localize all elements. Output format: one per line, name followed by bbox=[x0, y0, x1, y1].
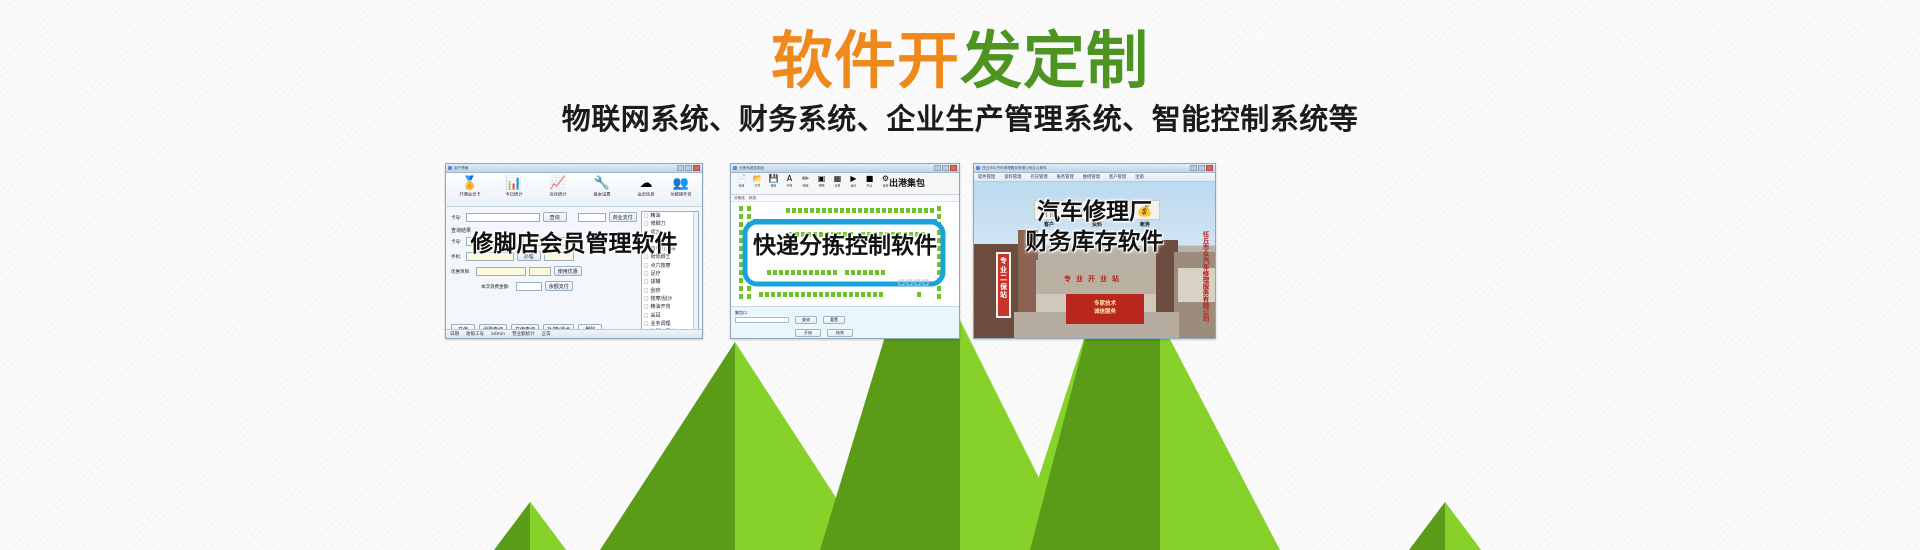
bottom-label-2: 集包口 bbox=[735, 310, 747, 316]
mountain-small-left-dark2 bbox=[494, 502, 566, 550]
minimize-icon-2[interactable] bbox=[934, 165, 941, 171]
gate-signage-text: 专业开业站 bbox=[1029, 274, 1159, 284]
page-title-green: 发定制 bbox=[960, 24, 1149, 97]
status-revenue: 营业额统计 bbox=[512, 331, 535, 337]
font-icon: A bbox=[782, 174, 797, 183]
status-user: admin bbox=[491, 332, 505, 337]
screenshot-card-3[interactable]: 任丘市众汽车修理服务有限公司办公软件 软件管理 资料管理 存货管理 账务管理 维… bbox=[973, 163, 1216, 339]
list-item[interactable]: 精油 bbox=[642, 212, 698, 220]
service-list-panel[interactable]: 精油 修脚刀 项次 养固剂 指甲刀消毒 牌修脚王 点穴按摩 足疗 拔罐 刮痧 按… bbox=[641, 211, 699, 339]
sorting-canvas[interactable] bbox=[731, 202, 959, 306]
mountain-svg bbox=[0, 320, 1920, 550]
stop-icon: ■ bbox=[862, 174, 877, 183]
screenshot-card-2[interactable]: 分拣系统控制台 📄 新建 📂 打开 💾 保存 bbox=[730, 163, 960, 339]
list-item[interactable]: 养固剂 bbox=[642, 237, 698, 245]
toolbar2-label-7: 运行 bbox=[847, 183, 860, 187]
minimize-icon-1[interactable] bbox=[677, 165, 684, 171]
mountain-2-dark bbox=[820, 320, 960, 550]
toolbar-label-1: 今日统计 bbox=[497, 191, 531, 197]
toolbar2-label-1: 打开 bbox=[751, 183, 764, 187]
total-input[interactable] bbox=[516, 282, 542, 291]
menu-item-repair[interactable]: 维修管理 bbox=[1083, 174, 1100, 180]
mountain-3-dark bbox=[1030, 320, 1160, 550]
list-scrollbar[interactable] bbox=[693, 212, 698, 339]
close-icon-3[interactable] bbox=[1206, 165, 1213, 171]
app-icon-1 bbox=[448, 166, 452, 170]
mountain-2-light bbox=[960, 320, 1075, 550]
total-label: 本次消费金额: bbox=[481, 283, 510, 289]
window-title-1: 用户界面 bbox=[454, 165, 468, 170]
toolbar-label-3: 基本设置 bbox=[585, 191, 619, 197]
mountain-small-left-light bbox=[530, 502, 566, 550]
list-item[interactable]: 项次 bbox=[642, 229, 698, 237]
status-state: 正常 bbox=[542, 331, 551, 337]
page-title-orange: 软件开 bbox=[771, 24, 960, 97]
list-item[interactable]: 采耳 bbox=[642, 312, 698, 320]
toolbar2-label-0: 新建 bbox=[735, 183, 748, 187]
menu-item-logout[interactable]: 注销 bbox=[1135, 174, 1144, 180]
maximize-icon-3[interactable] bbox=[1198, 165, 1205, 171]
close-icon-1[interactable] bbox=[693, 165, 700, 171]
list-item[interactable]: 指甲刀消毒 bbox=[642, 245, 698, 253]
org-chart-icon: 👥 bbox=[664, 175, 698, 191]
toolbar2-item-table[interactable]: ▦ 表格 bbox=[830, 174, 845, 188]
result-section-label: 查询结果 bbox=[451, 227, 637, 234]
window-title-3: 任丘市众汽车修理服务有限公司办公软件 bbox=[982, 165, 1047, 170]
window-controls-1[interactable] bbox=[677, 165, 700, 171]
card-number-row: 卡号: 查询 商业支付 bbox=[451, 212, 637, 222]
bottom-end-button[interactable]: 结束 bbox=[827, 329, 853, 337]
toolbar-label-2: 近月统计 bbox=[541, 191, 575, 197]
sorting-diagram bbox=[731, 202, 960, 306]
green-dot-row-top bbox=[786, 208, 934, 213]
service-input[interactable] bbox=[476, 267, 526, 276]
menu-item-software[interactable]: 软件管理 bbox=[978, 174, 995, 180]
toolbar2-label-2: 保存 bbox=[767, 183, 780, 187]
subrow-2: 分拣线 状态: bbox=[731, 195, 959, 202]
result-phone-label: 手机: bbox=[451, 253, 462, 259]
window-titlebar-1: 用户界面 bbox=[446, 164, 702, 173]
app-icon-2 bbox=[733, 166, 737, 170]
panel-title-2: 出港集包 bbox=[889, 176, 925, 189]
play-icon: ▶ bbox=[846, 174, 861, 183]
window-title-2: 分拣系统控制台 bbox=[739, 165, 764, 170]
result-phone-input[interactable] bbox=[466, 252, 514, 261]
toolbar-label-4: 会员信息 bbox=[629, 191, 663, 197]
statusbar-1: 日期 收银工号 admin 营业额统计 正常 bbox=[446, 329, 702, 338]
list-item[interactable]: 按摩/刮沙 bbox=[642, 295, 698, 303]
bottom-reset-button[interactable]: 重置 bbox=[823, 316, 845, 324]
maximize-icon-1[interactable] bbox=[685, 165, 692, 171]
mountain-small-right-light bbox=[1445, 502, 1481, 550]
toolbar2-item-run[interactable]: ▶ 运行 bbox=[846, 174, 861, 188]
menubar-3[interactable]: 软件管理 资料管理 存货管理 账务管理 维修管理 客户管理 注销 bbox=[974, 173, 1215, 182]
member-card-icon: 🏅 bbox=[450, 175, 490, 191]
icon-caption-customer: 客户 bbox=[1034, 221, 1064, 228]
small-square-row bbox=[761, 240, 928, 285]
toolbar-item-member-card[interactable]: 🏅 开通会员卡 bbox=[450, 175, 490, 198]
pay-button[interactable]: 商业支付 bbox=[609, 212, 637, 222]
icon-caption-accounts: 帐务 bbox=[1130, 221, 1160, 228]
list-item[interactable]: 足疗 bbox=[642, 270, 698, 278]
toolbar2-item-new[interactable]: 📄 新建 bbox=[734, 174, 749, 188]
result-phone-row: 手机: 办理 bbox=[451, 251, 637, 261]
result-card-input[interactable] bbox=[466, 237, 524, 246]
screenshot-gallery: 用户界面 🏅 开通会员卡 📊 今日统计 📈 近月统计 bbox=[0, 163, 1920, 341]
toolbar2-item-font[interactable]: A 字体 bbox=[782, 174, 797, 188]
icon-tile-data[interactable]: ✍ 资料 bbox=[1082, 200, 1112, 228]
open-folder-icon: 📂 bbox=[750, 174, 765, 183]
mountain-small-left-dark bbox=[530, 502, 566, 550]
mountain-3-light bbox=[1015, 320, 1160, 550]
bottom-query-button[interactable]: 查询 bbox=[795, 316, 817, 324]
toolbar-item-today-stats[interactable]: 📊 今日统计 bbox=[494, 175, 534, 198]
green-dot-row-inner-bottom bbox=[767, 270, 885, 275]
icon-tile-customer[interactable]: 👫 客户 bbox=[1034, 200, 1064, 228]
balance-pay-button[interactable]: 余额支付 bbox=[545, 281, 573, 291]
red-banner: 专家技术 诚信服务 bbox=[1066, 294, 1144, 324]
settings-icon: 🔧 bbox=[582, 175, 622, 191]
result-phone-input-2[interactable] bbox=[544, 252, 574, 261]
people-icon: 👫 bbox=[1034, 200, 1064, 220]
toolbar-right-label: 功能操作员 bbox=[667, 191, 696, 197]
service-input-2[interactable] bbox=[529, 267, 551, 276]
line-chart-icon: 📈 bbox=[538, 175, 578, 191]
window-titlebar-3: 任丘市众汽车修理服务有限公司办公软件 bbox=[974, 164, 1215, 173]
toolbar2-label-6: 表格 bbox=[831, 183, 844, 187]
screenshot-card-1[interactable]: 用户界面 🏅 开通会员卡 📊 今日统计 📈 近月统计 bbox=[445, 163, 703, 339]
form-area-1: 卡号: 查询 商业支付 查询结果 卡号: 手机: bbox=[446, 207, 641, 339]
banner-line-2: 诚信服务 bbox=[1066, 308, 1144, 316]
toolbar2-label-5: 视图 bbox=[815, 183, 828, 187]
workshop-photo: 👫 客户 ✍ 资料 💰 帐务 专业开业站 专家技术 诚信服务 专业二保站 任丘市 bbox=[974, 182, 1215, 339]
maximize-icon-2[interactable] bbox=[942, 165, 949, 171]
result-card-input-2[interactable] bbox=[527, 237, 569, 246]
icon-tile-accounts[interactable]: 💰 帐务 bbox=[1130, 200, 1160, 228]
promo-banner: 软件开发定制 物联网系统、财务系统、企业生产管理系统、智能控制系统等 用户界面 … bbox=[0, 0, 1920, 550]
minimize-icon-3[interactable] bbox=[1190, 165, 1197, 171]
list-item[interactable]: 业务调理 bbox=[642, 320, 698, 328]
green-dot-col-right bbox=[937, 206, 941, 299]
toolbar-item-operator[interactable]: 👥 功能操作员 bbox=[664, 175, 698, 198]
toolbar-1[interactable]: 🏅 开通会员卡 📊 今日统计 📈 近月统计 🔧 基本设置 ☁ 会员信 bbox=[446, 173, 702, 207]
window-titlebar-2: 分拣系统控制台 bbox=[731, 164, 959, 173]
app-icon-3 bbox=[976, 166, 980, 170]
window-body-1: 卡号: 查询 商业支付 查询结果 卡号: 手机: bbox=[446, 207, 702, 339]
mountain-3-light-b bbox=[1160, 320, 1280, 550]
service-row: 优惠项目: 使用优惠 bbox=[451, 266, 637, 276]
icon-caption-data: 资料 bbox=[1082, 221, 1112, 228]
query-button[interactable]: 查询 bbox=[543, 212, 567, 222]
new-file-icon: 📄 bbox=[734, 174, 749, 183]
subrow-status-label: 状态: bbox=[749, 196, 757, 201]
result-card-label: 卡号: bbox=[451, 238, 462, 244]
toolbar2-item-save[interactable]: 💾 保存 bbox=[766, 174, 781, 188]
list-item[interactable]: 精油开背 bbox=[642, 303, 698, 311]
list-item[interactable]: 刮痧 bbox=[642, 287, 698, 295]
list-item[interactable]: 点穴按摩 bbox=[642, 262, 698, 270]
toolbar-item-month-stats[interactable]: 📈 近月统计 bbox=[538, 175, 578, 198]
page-title: 软件开发定制 bbox=[0, 30, 1920, 92]
mountain-3-dark-b bbox=[1040, 320, 1160, 550]
table-icon: ▦ bbox=[830, 174, 845, 183]
bottom-start-button[interactable]: 开始 bbox=[795, 329, 821, 337]
menu-item-accounts[interactable]: 账务管理 bbox=[1057, 174, 1074, 180]
toolbar-item-member-info[interactable]: ☁ 会员信息 bbox=[626, 175, 666, 198]
service-label: 优惠项目: bbox=[451, 268, 471, 274]
money-icon: 💰 bbox=[1130, 200, 1160, 220]
list-item[interactable]: 拔罐 bbox=[642, 278, 698, 286]
toolbar2-item-edit[interactable]: ✏ 编辑 bbox=[798, 174, 813, 188]
red-vertical-sign: 专业二保站 bbox=[996, 252, 1011, 318]
toolbar2-item-open[interactable]: 📂 打开 bbox=[750, 174, 765, 188]
result-card-row: 卡号: bbox=[451, 237, 637, 246]
status-cashier: 收银工号 bbox=[466, 331, 484, 337]
toolbar2-label-4: 编辑 bbox=[799, 183, 812, 187]
conveyor-top-bar bbox=[753, 219, 937, 224]
window-controls-3[interactable] bbox=[1190, 165, 1213, 171]
menu-item-data[interactable]: 资料管理 bbox=[1004, 174, 1021, 180]
subrow-line-label: 分拣线 bbox=[734, 196, 745, 201]
pencil-icon: ✏ bbox=[798, 174, 813, 183]
toolbar-item-settings[interactable]: 🔧 基本设置 bbox=[582, 175, 622, 198]
save-icon: 💾 bbox=[766, 174, 781, 183]
list-item[interactable]: 修脚刀 bbox=[642, 220, 698, 228]
view-icon: ▣ bbox=[814, 174, 829, 183]
company-vertical-text: 任丘市众汽车修理服务有限公司 bbox=[1192, 216, 1208, 336]
secondary-input[interactable] bbox=[578, 213, 606, 222]
list-item[interactable]: 牌修脚王 bbox=[642, 253, 698, 261]
document-pen-icon: ✍ bbox=[1082, 200, 1112, 220]
page-subtitle: 物联网系统、财务系统、企业生产管理系统、智能控制系统等 bbox=[0, 103, 1920, 135]
mountain-small-right-dark bbox=[1409, 502, 1481, 550]
green-dot-row-inner-top bbox=[789, 232, 925, 237]
toolbar2-label-3: 字体 bbox=[783, 183, 796, 187]
bar-chart-icon: 📊 bbox=[494, 175, 534, 191]
toolbar-label-0: 开通会员卡 bbox=[453, 191, 487, 197]
menu-item-customer[interactable]: 客户管理 bbox=[1109, 174, 1126, 180]
toolbar-2[interactable]: 📄 新建 📂 打开 💾 保存 A 字体 ✏ 编辑 bbox=[731, 173, 959, 195]
banner-line-1: 专家技术 bbox=[1066, 300, 1144, 308]
menu-item-inventory[interactable]: 存货管理 bbox=[1030, 174, 1047, 180]
mountain-1-dark bbox=[600, 342, 735, 550]
mountain-decoration bbox=[0, 320, 1920, 550]
cloud-icon: ☁ bbox=[626, 175, 666, 191]
bottom-panel-2: 集包口 查询 重置 开始 结束 bbox=[731, 306, 959, 339]
toolbar2-item-stop[interactable]: ■ 停止 bbox=[862, 174, 877, 188]
mountain-1-light bbox=[735, 342, 870, 550]
use-discount-button[interactable]: 使用优惠 bbox=[554, 266, 582, 276]
total-row: 本次消费金额: 余额支付 bbox=[481, 281, 637, 291]
toolbar2-label-8: 停止 bbox=[863, 183, 876, 187]
close-icon-2[interactable] bbox=[950, 165, 957, 171]
card-number-label: 卡号: bbox=[451, 214, 462, 220]
status-date: 日期 bbox=[450, 331, 459, 337]
green-dot-row-bottom bbox=[759, 292, 921, 297]
toolbar2-item-view[interactable]: ▣ 视图 bbox=[814, 174, 829, 188]
window-controls-2[interactable] bbox=[934, 165, 957, 171]
card-number-input[interactable] bbox=[466, 213, 540, 222]
bottom-input-2[interactable] bbox=[735, 317, 789, 323]
handle-button[interactable]: 办理 bbox=[517, 251, 541, 261]
